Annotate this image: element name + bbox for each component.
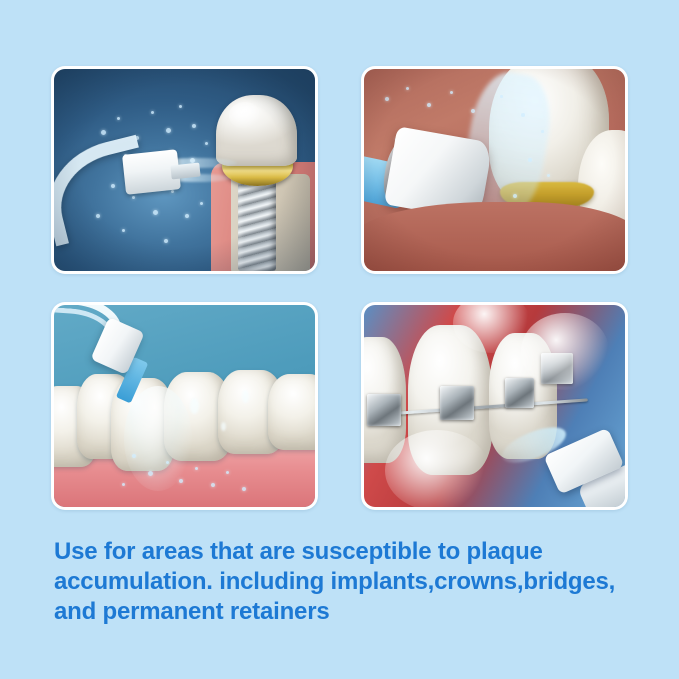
infographic-page: Use for areas that are susceptible to pl… (0, 0, 679, 679)
panel-gumline-image (364, 69, 625, 271)
caption-line-3: and permanent retainers (54, 597, 644, 627)
panel-braces (361, 302, 628, 510)
panel-vignette (54, 69, 315, 271)
panel-gumline (361, 66, 628, 274)
molar-tooth (268, 374, 315, 451)
braces-bracket (440, 386, 474, 420)
caption-text: Use for areas that are susceptible to pl… (54, 537, 644, 627)
panel-molars (51, 302, 318, 510)
panel-molars-image (54, 305, 315, 507)
braces-bracket (505, 378, 534, 408)
water-splash (385, 430, 489, 507)
caption-line-1: Use for areas that are susceptible to pl… (54, 537, 644, 567)
panel-vignette (364, 69, 625, 271)
panel-grid (51, 66, 628, 509)
panel-implant (51, 66, 318, 274)
panel-implant-image (54, 69, 315, 271)
caption-line-2: accumulation. including implants,crowns,… (54, 567, 644, 597)
water-splash (124, 386, 192, 491)
braces-bracket (367, 394, 401, 426)
panel-braces-image (364, 305, 625, 507)
water-splash (521, 313, 610, 390)
